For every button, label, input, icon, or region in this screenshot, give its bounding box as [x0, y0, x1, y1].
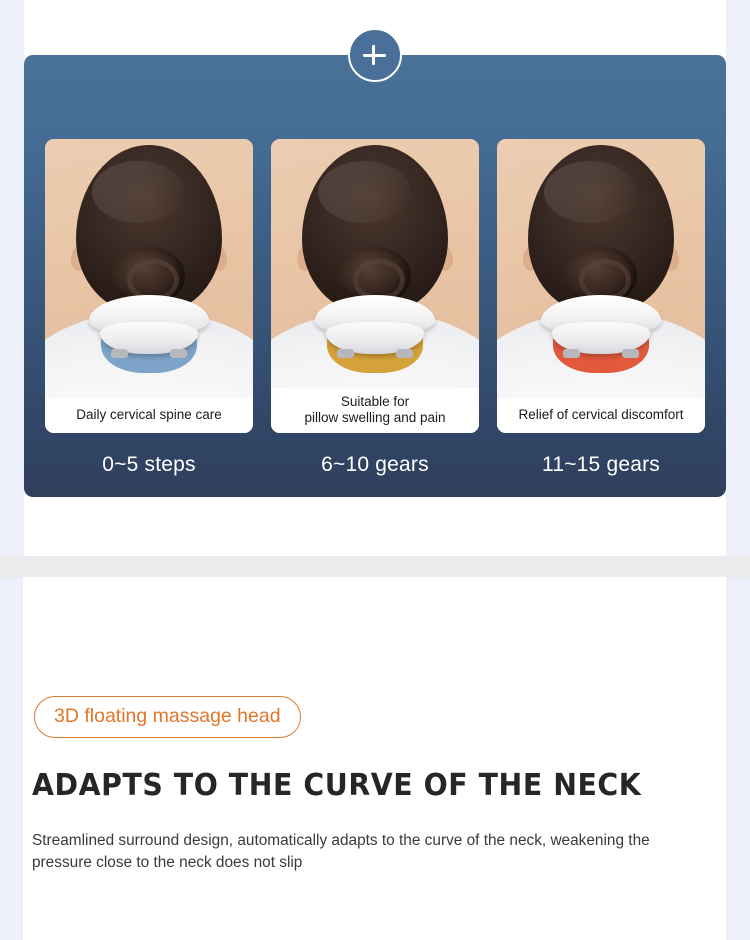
device-electrode-left — [111, 349, 128, 358]
photo-caption: Relief of cervical discomfort — [497, 398, 705, 433]
photo-card-row: Daily cervical spine care — [45, 139, 705, 433]
photo-card[interactable]: Relief of cervical discomfort — [497, 139, 705, 433]
photo-caption-line: pillow swelling and pain — [275, 410, 475, 426]
photo-card[interactable]: Daily cervical spine care — [45, 139, 253, 433]
gear-label: 6~10 gears — [271, 453, 479, 477]
photo-caption-line: Suitable for — [275, 394, 475, 410]
bottom-white-panel: 3D floating massage head ADAPTS TO THE C… — [23, 577, 726, 940]
device-electrode-left — [337, 349, 354, 358]
photo-caption: Daily cervical spine care — [45, 398, 253, 433]
neck-massager-device — [315, 295, 435, 359]
device-electrode-right — [396, 349, 413, 358]
page-title: ADAPTS TO THE CURVE OF THE NECK — [32, 768, 641, 803]
top-white-panel: Daily cervical spine care — [24, 0, 726, 556]
body-description: Streamlined surround design, automatical… — [32, 830, 682, 874]
gear-label: 0~5 steps — [45, 453, 253, 477]
device-electrode-left — [563, 349, 580, 358]
plus-icon-vertical — [372, 45, 375, 66]
device-electrode-right — [622, 349, 639, 358]
photo-card[interactable]: Suitable for pillow swelling and pain — [271, 139, 479, 433]
product-photo — [497, 139, 705, 433]
gear-label: 11~15 gears — [497, 453, 705, 477]
product-photo — [45, 139, 253, 433]
neck-massager-device — [89, 295, 209, 359]
gear-label-row: 0~5 steps 6~10 gears 11~15 gears — [45, 445, 705, 485]
cervical-modes-card: Daily cervical spine care — [24, 55, 726, 497]
section-divider — [0, 556, 750, 578]
expand-plus-button[interactable] — [348, 28, 402, 82]
feature-badge: 3D floating massage head — [34, 696, 301, 738]
device-electrode-right — [170, 349, 187, 358]
photo-caption: Suitable for pillow swelling and pain — [271, 388, 479, 433]
neck-massager-device — [541, 295, 661, 359]
